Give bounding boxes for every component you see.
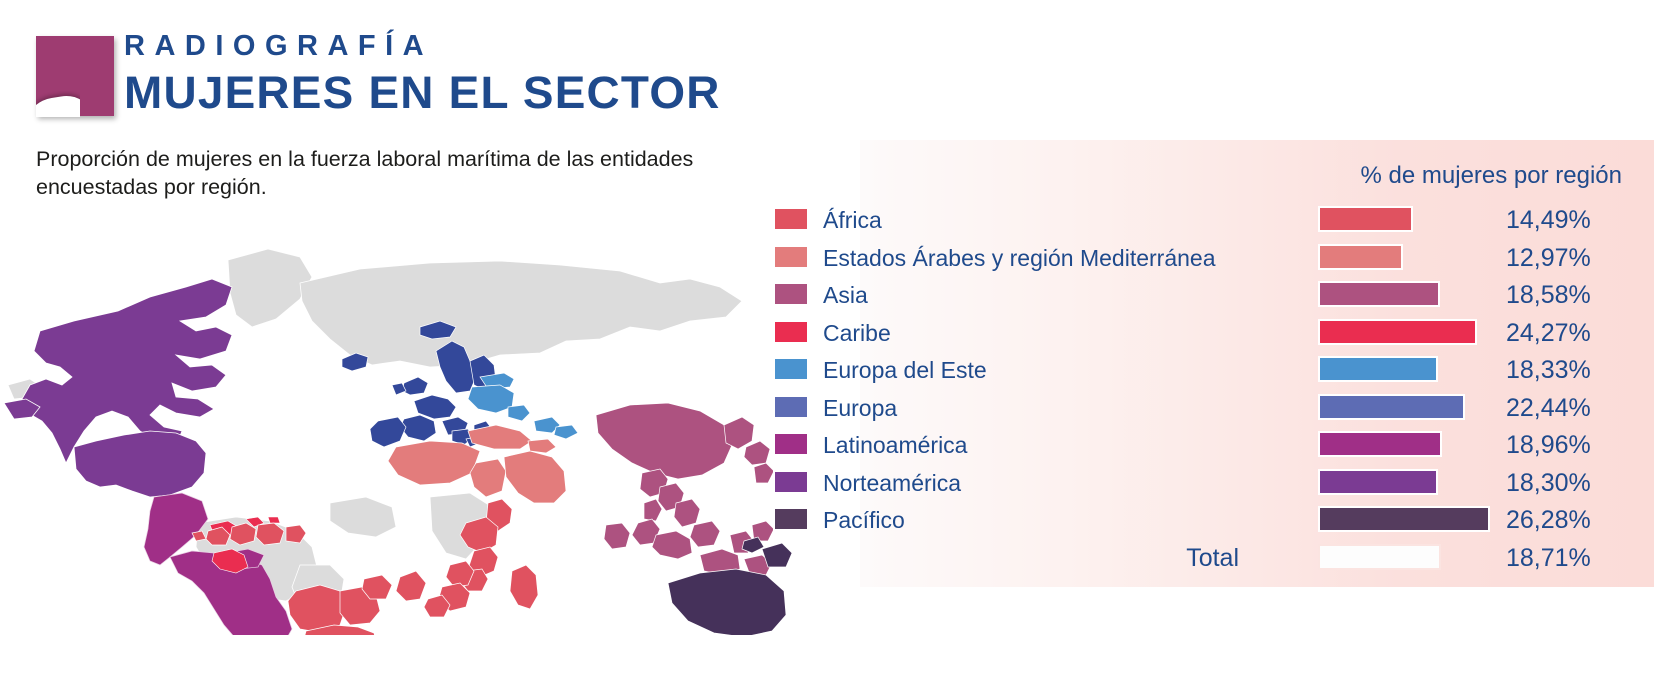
chart-row: Estados Árabes y región Mediterránea 12,…	[860, 240, 1654, 278]
legend-swatch	[773, 507, 809, 531]
value-bar	[1318, 431, 1442, 457]
legend-swatch	[773, 395, 809, 419]
value-label: 18,33%	[1506, 352, 1591, 390]
page-title: MUJERES EN EL SECTOR	[124, 70, 721, 115]
kicker-text: RADIOGRAFÍA	[124, 32, 709, 61]
chart-panel: % de mujeres por región África 14,49% Es…	[860, 140, 1654, 587]
chart-row: Europa del Este 18,33%	[860, 352, 1654, 390]
total-label: Total	[1186, 540, 1239, 578]
curled-page-icon	[36, 36, 114, 116]
chart-row: Caribe 24,27%	[860, 315, 1654, 353]
chart-row: África 14,49%	[860, 202, 1654, 240]
map-region-norteamerica	[4, 279, 232, 497]
subtitle-text: Proporción de mujeres en la fuerza labor…	[36, 145, 776, 202]
value-bar	[1318, 356, 1438, 382]
legend-label: Pacífico	[823, 502, 905, 540]
value-bar	[1318, 319, 1477, 345]
legend-label: Europa	[823, 390, 897, 428]
chart-rows: África 14,49% Estados Árabes y región Me…	[860, 202, 1654, 577]
legend-label: Estados Árabes y región Mediterránea	[823, 240, 1216, 278]
value-label: 18,30%	[1506, 465, 1591, 503]
value-label: 14,49%	[1506, 202, 1591, 240]
value-bar	[1318, 244, 1403, 270]
value-label: 22,44%	[1506, 390, 1591, 428]
legend-swatch	[773, 320, 809, 344]
legend-swatch	[773, 470, 809, 494]
value-label: 18,58%	[1506, 277, 1591, 315]
world-map	[0, 235, 800, 635]
header: RADIOGRAFÍA MUJERES EN EL SECTOR	[0, 0, 1654, 140]
logo-curl	[36, 91, 80, 117]
total-bar	[1318, 544, 1441, 570]
chart-row: Latinoamérica 18,96%	[860, 427, 1654, 465]
value-label: 18,96%	[1506, 427, 1591, 465]
legend-swatch	[773, 432, 809, 456]
value-label: 24,27%	[1506, 315, 1591, 353]
value-bar	[1318, 281, 1440, 307]
legend-swatch	[773, 245, 809, 269]
chart-row: Norteamérica 18,30%	[860, 465, 1654, 503]
value-bar	[1318, 394, 1465, 420]
total-value-label: 18,71%	[1506, 540, 1591, 578]
value-bar	[1318, 206, 1413, 232]
chart-row-total: Total 18,71%	[860, 540, 1654, 578]
value-bar	[1318, 506, 1490, 532]
legend-swatch	[773, 357, 809, 381]
chart-row: Pacífico 26,28%	[860, 502, 1654, 540]
chart-row: Asia 18,58%	[860, 277, 1654, 315]
legend-swatch	[773, 282, 809, 306]
world-map-svg	[0, 235, 800, 635]
legend-label: Caribe	[823, 315, 891, 353]
legend-label: Europa del Este	[823, 352, 987, 390]
legend-swatch	[773, 207, 809, 231]
value-label: 12,97%	[1506, 240, 1591, 278]
legend-label: Latinoamérica	[823, 427, 967, 465]
chart-title: % de mujeres por región	[1361, 162, 1622, 190]
legend-label: África	[823, 202, 882, 240]
chart-row: Europa 22,44%	[860, 390, 1654, 428]
value-label: 26,28%	[1506, 502, 1591, 540]
legend-label: Asia	[823, 277, 868, 315]
title-block: RADIOGRAFÍA MUJERES EN EL SECTOR	[124, 32, 709, 115]
legend-label: Norteamérica	[823, 465, 961, 503]
value-bar	[1318, 469, 1438, 495]
